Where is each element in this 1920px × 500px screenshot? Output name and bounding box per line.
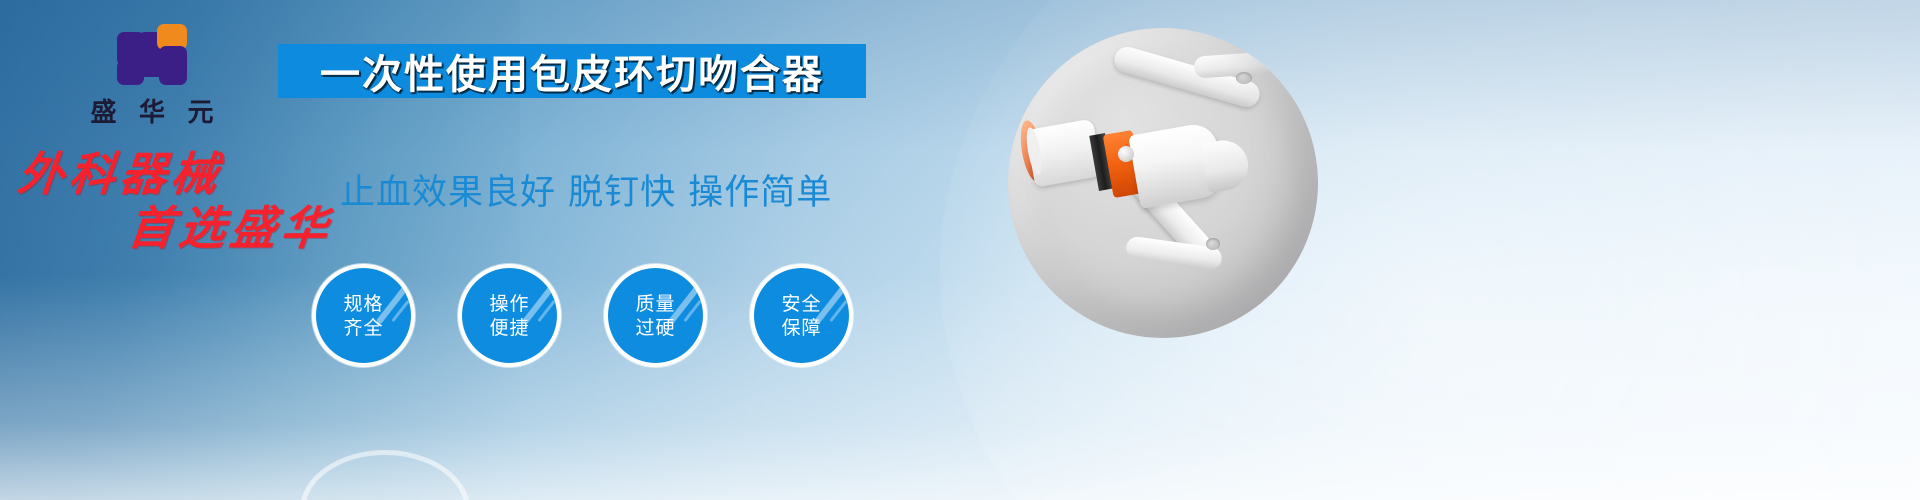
- product-photo: [1008, 28, 1318, 338]
- feature-circle-4-line-1: 安全: [781, 292, 821, 316]
- logo-block-4: [159, 46, 187, 85]
- feature-circle-3-line-2: 过硬: [635, 316, 675, 340]
- feature-circle-2[interactable]: 操作 便捷: [458, 264, 561, 367]
- product-photo-shading: [1008, 28, 1318, 338]
- feature-circle-list: 规格 齐全 操作 便捷 质量 过硬 安全 保障: [312, 264, 853, 367]
- feature-circle-1[interactable]: 规格 齐全: [312, 264, 415, 367]
- feature-circle-4-line-2: 保障: [781, 316, 821, 340]
- sub-slogan: 止血效果良好 脱钉快 操作简单: [340, 164, 832, 215]
- feature-circle-3[interactable]: 质量 过硬: [604, 264, 707, 367]
- feature-circle-4[interactable]: 安全 保障: [750, 264, 853, 367]
- feature-circle-2-line-2: 便捷: [489, 316, 529, 340]
- logo-mark-icon: [117, 24, 187, 86]
- promo-banner: 盛 华 元 外科器械 首选盛华 一次性使用包皮环切吻合器 止血效果良好 脱钉快 …: [0, 0, 1920, 500]
- logo-block-3: [117, 60, 144, 85]
- feature-circle-2-line-1: 操作: [489, 292, 529, 316]
- company-logo: 盛 华 元: [62, 24, 242, 129]
- page-title: 一次性使用包皮环切吻合器: [320, 42, 824, 100]
- feature-circle-1-line-1: 规格: [343, 292, 383, 316]
- feature-circle-1-line-2: 齐全: [343, 316, 383, 340]
- feature-circle-3-line-1: 质量: [635, 292, 675, 316]
- product-photo-disc: [1008, 28, 1318, 338]
- company-name: 盛 华 元: [62, 92, 242, 129]
- title-bar: 一次性使用包皮环切吻合器: [278, 44, 866, 98]
